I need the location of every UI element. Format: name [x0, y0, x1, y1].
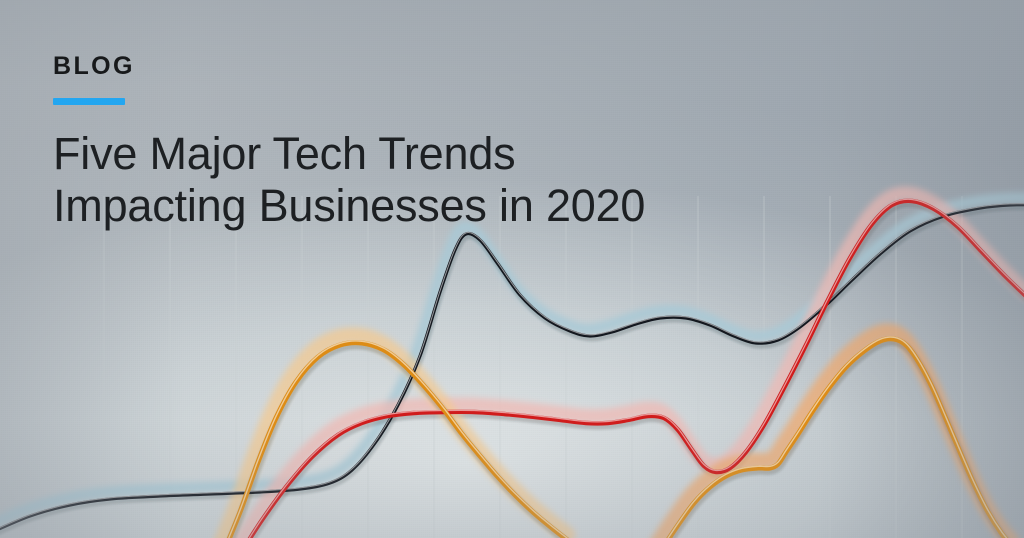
- page-title: Five Major Tech Trends Impacting Busines…: [53, 128, 813, 232]
- background-vignette: [0, 0, 1024, 538]
- blog-hero-banner: BLOG Five Major Tech Trends Impacting Bu…: [0, 0, 1024, 538]
- accent-rule: [53, 98, 125, 105]
- eyebrow-label: BLOG: [53, 54, 135, 79]
